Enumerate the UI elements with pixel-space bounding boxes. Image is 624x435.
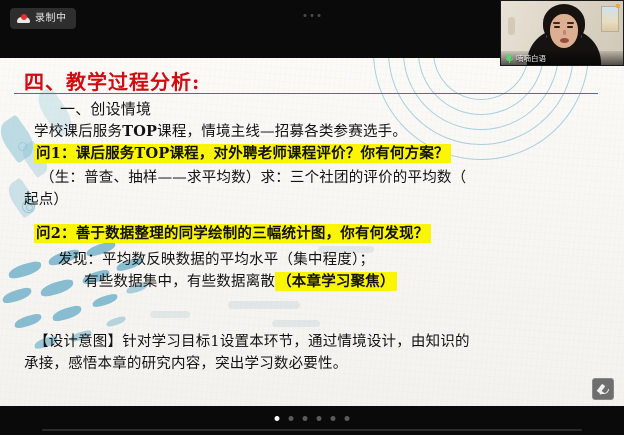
- person-nose: [563, 30, 566, 35]
- person-eye-left: [554, 26, 560, 28]
- slide-line-10: 承接，感悟本章的研究内容，突出学习数必要性。: [24, 352, 347, 373]
- pen-annotate-icon: [597, 383, 609, 395]
- wall-object-decoration: [508, 17, 515, 35]
- page-dot-2[interactable]: [289, 416, 294, 421]
- q1-top: TOP: [135, 145, 170, 162]
- slide-line-9: 【设计意图】针对学习目标1设置本环节，通过情境设计，由知识的: [34, 330, 470, 351]
- slide-line-8-part-a: 有些数据集中，有些数据离散: [84, 274, 275, 290]
- recording-status-label: 录制中: [35, 13, 67, 24]
- meeting-screen-share-view: 录制中 喃喃白语: [0, 0, 624, 435]
- page-dot-4[interactable]: [317, 416, 322, 421]
- cloud-record-icon: [17, 13, 30, 24]
- signal-indicator-icon: [616, 4, 620, 8]
- q2-highlight: 问2：善于数据整理的同学绘制的三幅统计图，你有何发现？: [34, 224, 431, 243]
- more-dots-icon[interactable]: [304, 14, 321, 17]
- slide-line-2-top: TOP: [122, 123, 157, 140]
- faint-bar-decoration: [272, 320, 320, 327]
- slide-line-5: 起点）: [24, 188, 68, 209]
- slide-line-7: 发现：平均数反映数据的平均水平（集中程度）；: [58, 248, 374, 269]
- faint-bar-decoration: [150, 311, 190, 318]
- person-eye-right: [567, 26, 573, 28]
- focus-highlight: （本章学习聚焦）: [275, 272, 397, 291]
- wall-picture-decoration: [601, 6, 619, 32]
- recording-status-badge[interactable]: 录制中: [10, 8, 76, 29]
- slide-line-3-question1: 问1：课后服务TOP课程，对外聘老师课程评价？你有何方案？: [34, 142, 451, 163]
- page-dot-1[interactable]: [275, 416, 280, 421]
- faint-bar-decoration: [228, 301, 300, 309]
- q1-highlight: 问1：课后服务TOP课程，对外聘老师课程评价？你有何方案？: [34, 144, 451, 163]
- slide-line-2-part-c: 课程，情境主线—招募各类参赛选手。: [157, 124, 407, 140]
- page-dot-5[interactable]: [331, 416, 336, 421]
- slide-line-8: 有些数据集中，有些数据离散（本章学习聚焦）: [84, 270, 397, 291]
- person-eyebrow-right: [567, 22, 574, 24]
- slide-line-2-part-a: 学校课后服务: [34, 124, 122, 140]
- person-mouth: [560, 38, 569, 43]
- slide-line-4: （生：普查、抽样——求平均数）求：三个社团的评价的平均数（: [40, 166, 466, 187]
- slide-title-row: 四、教学过程分析:: [24, 66, 200, 95]
- q1-part-a: 问1：课后服务: [36, 145, 135, 162]
- slide-line-2: 学校课后服务TOP课程，情境主线—招募各类参赛选手。: [34, 120, 407, 141]
- page-title: 四、教学过程分析:: [24, 70, 200, 94]
- slide-line-6-question2: 问2：善于数据整理的同学绘制的三幅统计图，你有何发现？: [34, 222, 431, 243]
- participant-name-label: 喃喃白语: [516, 54, 546, 63]
- person-eyebrow-left: [553, 22, 560, 24]
- microphone-on-icon[interactable]: [505, 54, 513, 63]
- slide-line-1: 一、创设情境: [60, 98, 151, 119]
- page-dot-6[interactable]: [345, 416, 350, 421]
- home-indicator[interactable]: [42, 429, 582, 431]
- participant-video-tile[interactable]: 喃喃白语: [500, 0, 624, 66]
- page-indicator-dots[interactable]: [275, 416, 350, 421]
- shared-slide[interactable]: 四、教学过程分析: 一、创设情境 学校课后服务TOP课程，情境主线—招募各类参赛…: [0, 58, 624, 406]
- q1-part-c: 课程，对外聘老师课程评价？你有何方案？: [169, 145, 448, 162]
- title-divider: [14, 93, 598, 94]
- ring-mark-decoration: [18, 142, 27, 151]
- bottom-bar: [0, 406, 624, 435]
- page-dot-3[interactable]: [303, 416, 308, 421]
- participant-name-bar: 喃喃白语: [501, 51, 623, 65]
- pen-annotate-button[interactable]: [592, 378, 614, 400]
